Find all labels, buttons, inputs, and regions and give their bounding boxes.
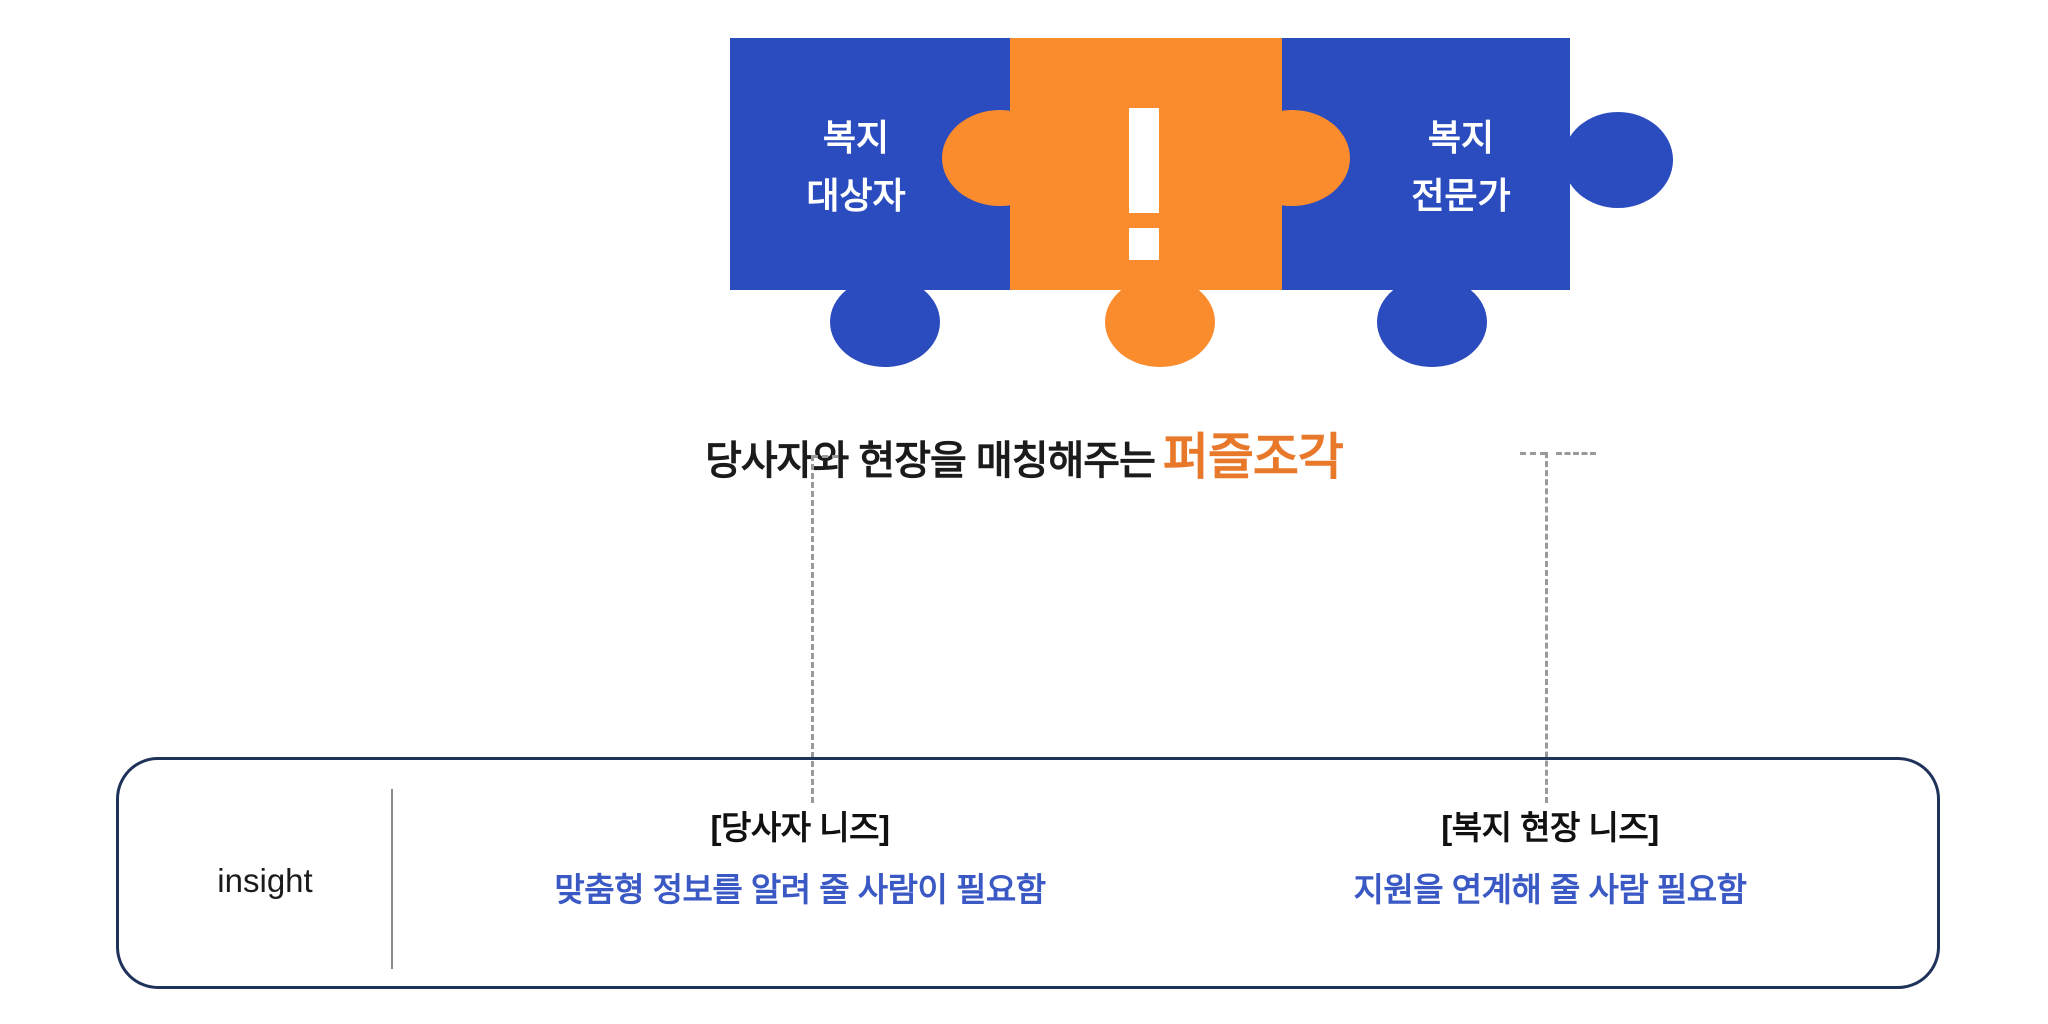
puzzle-svg: 복지 대상자 복지 전문가 (0, 0, 2048, 400)
insight-columns: [당사자 니즈] 맞춤형 정보를 알려 줄 사람이 필요함 [복지 현장 니즈]… (420, 810, 1920, 960)
caption-plain-text: 당사자와 현장을 매칭해주는 (705, 439, 1155, 483)
insight-column-field: [복지 현장 니즈] 지원을 연계해 줄 사람 필요함 (1180, 810, 1920, 909)
connector-nub-right-b (1556, 452, 1596, 455)
puzzle-left-label-line1: 복지 (823, 117, 889, 158)
connector-nub-right-a (1520, 452, 1546, 455)
puzzle-right-label-line1: 복지 (1428, 117, 1494, 158)
insight-column-field-text: 지원을 연계해 줄 사람 필요함 (1180, 872, 1920, 908)
insight-column-field-title: [복지 현장 니즈] (1180, 810, 1920, 846)
insight-column-beneficiary-title: [당사자 니즈] (420, 810, 1180, 846)
exclamation-bar (1129, 108, 1159, 213)
connector-line-right (1545, 452, 1548, 803)
slide-canvas: 복지 대상자 복지 전문가 당사자와 현장을 매칭해주는퍼즐조각 insight… (0, 0, 2048, 1024)
exclamation-dot (1129, 228, 1159, 260)
puzzle-piece-left-bottom-knob (830, 277, 940, 367)
insight-divider (391, 789, 393, 969)
puzzle-piece-right-bottom-knob (1377, 277, 1487, 367)
puzzle-piece-center-left-knob (942, 110, 1058, 206)
puzzle-piece-center-bottom-knob (1105, 277, 1215, 367)
puzzle-left-label-line2: 대상자 (806, 175, 905, 216)
puzzle-piece-right-side-tab (1563, 112, 1673, 208)
caption-accent-text: 퍼즐조각 (1163, 429, 1343, 485)
connector-nub-left (812, 455, 838, 458)
insight-column-beneficiary: [당사자 니즈] 맞춤형 정보를 알려 줄 사람이 필요함 (420, 810, 1180, 909)
puzzle-right-label-line2: 전문가 (1411, 175, 1510, 216)
caption: 당사자와 현장을 매칭해주는퍼즐조각 (0, 432, 2048, 482)
insight-label: insight (150, 862, 380, 900)
insight-column-beneficiary-text: 맞춤형 정보를 알려 줄 사람이 필요함 (420, 872, 1180, 908)
exclamation-icon (1129, 108, 1159, 260)
connector-line-left (811, 455, 814, 803)
puzzle-piece-center-right-knob (1234, 110, 1350, 206)
puzzle-diagram: 복지 대상자 복지 전문가 (0, 0, 2048, 400)
